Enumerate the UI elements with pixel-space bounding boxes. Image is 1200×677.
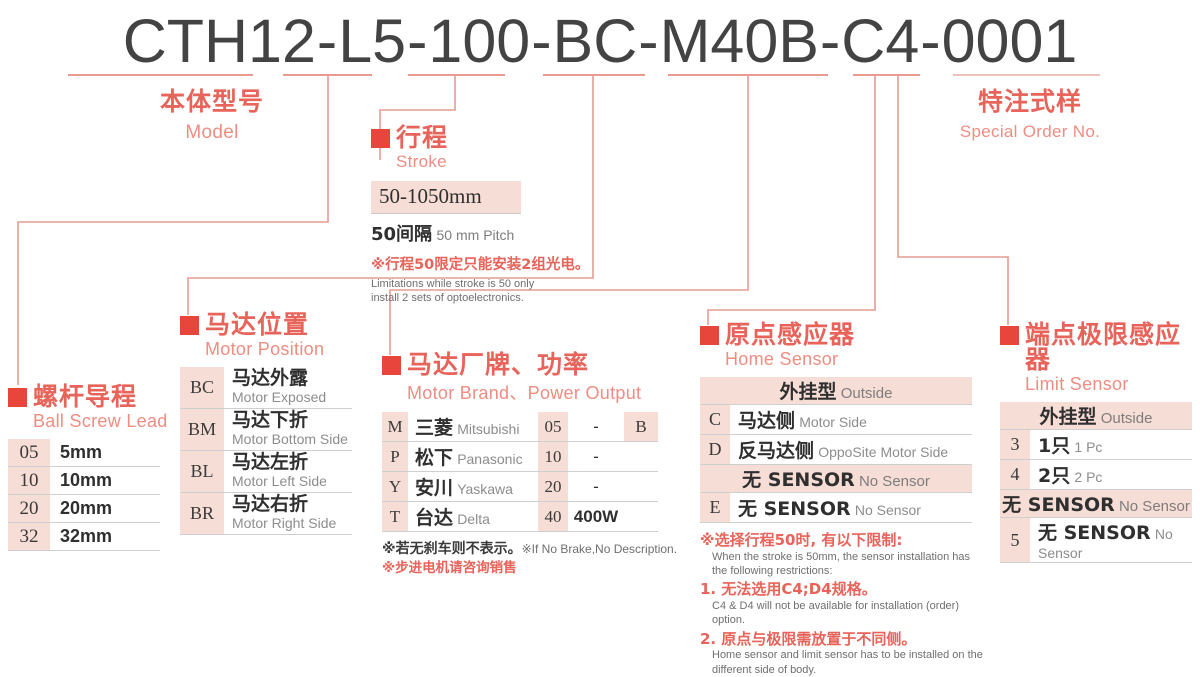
product-code: CTH12-L5-100-BC-M40B-C4-0001 [0, 6, 1200, 76]
cell-brake-code: B [624, 412, 658, 442]
cell-code: E [700, 493, 730, 523]
code-separator: - [919, 7, 941, 75]
cell-brand-name: 安川 Yaskawa [408, 472, 538, 502]
table-row: 1010mm [8, 467, 160, 495]
cell-value: 5mm [50, 439, 160, 467]
cell-brand-name: 三菱 Mitsubishi [408, 412, 538, 442]
cell-description: 无 SENSOR No Sensor [1030, 518, 1192, 563]
section-stroke: 行程 Stroke 50-1050mm 50间隔 50 mm Pitch ※行程… [371, 125, 589, 306]
section-limit-sensor-title-cn: 端点极限感应器 [1025, 322, 1200, 372]
cell-brand-name: 松下 Panasonic [408, 442, 538, 472]
motor-brand-note-line1: ※若无刹车则不表示。※If No Brake,No Description. [382, 538, 677, 558]
home-note-item2-en-1: Home sensor and limit sensor has to be i… [712, 648, 986, 662]
square-bullet-icon [371, 129, 390, 148]
stroke-pitch-en: 50 mm Pitch [437, 227, 515, 243]
cell-description: 反马达侧 OppoSite Motor Side [730, 435, 972, 465]
section-home-sensor-title-en: Home Sensor [725, 349, 986, 370]
section-motor-brand-heading: 马达厂牌、功率 [382, 352, 677, 377]
cell-code: BL [180, 450, 224, 492]
square-bullet-icon [700, 326, 719, 345]
ball-screw-lead-table: 055mm1010mm2020mm3232mm [8, 439, 160, 551]
cell-code: 05 [8, 439, 50, 467]
table-row: 42只 2 Pc [1000, 460, 1192, 490]
cell-brake-code [624, 442, 658, 472]
section-special-title-en: Special Order No. [930, 122, 1130, 142]
cell-code: 10 [8, 467, 50, 495]
cell-brand-code: M [382, 412, 408, 442]
table-row: C马达侧 Motor Side [700, 405, 972, 435]
cell-code: 4 [1000, 460, 1030, 490]
section-model-title-en: Model [112, 122, 312, 144]
stroke-note-cn: ※行程50限定只能安装2组光电。 [371, 256, 589, 274]
motor-brand-note-cn: ※若无刹车则不表示。 [382, 541, 522, 557]
table-row: BM马达下折Motor Bottom Side [180, 408, 352, 450]
section-motor-brand-title-en: Motor Brand、Power Output [407, 379, 677, 405]
table-row: 5无 SENSOR No Sensor [1000, 518, 1192, 563]
stroke-range-value: 50-1050mm [379, 184, 482, 208]
section-ball-screw-title-cn: 螺杆导程 [33, 384, 137, 409]
section-home-sensor-heading: 原点感应器 [700, 322, 986, 347]
section-ball-screw-lead: 螺杆导程 Ball Screw Lead 055mm1010mm2020mm32… [8, 384, 168, 551]
cell-code: 20 [8, 495, 50, 523]
cell-description: 马达下折Motor Bottom Side [224, 408, 352, 450]
band-outside: 外挂型 Outside [1000, 402, 1192, 430]
cell-power-value: - [568, 412, 624, 442]
motor-position-table: BC马达外露Motor ExposedBM马达下折Motor Bottom Si… [180, 367, 352, 535]
section-home-sensor-title-cn: 原点感应器 [725, 322, 855, 347]
table-row: D反马达侧 OppoSite Motor Side [700, 435, 972, 465]
table-row: M三菱 Mitsubishi05-B [382, 412, 658, 442]
motor-brand-notes: ※若无刹车则不表示。※If No Brake,No Description. ※… [382, 538, 677, 577]
cell-brake-code [624, 502, 658, 532]
table-row: BC马达外露Motor Exposed [180, 367, 352, 408]
cell-code: 32 [8, 523, 50, 551]
table-row: T台达 Delta40400W [382, 502, 658, 532]
section-stroke-title-en: Stroke [396, 152, 589, 172]
code-separator: - [406, 7, 428, 75]
home-note-item2-en-2: different side of body. [712, 663, 986, 677]
section-stroke-heading: 行程 [371, 125, 589, 150]
cell-description: 马达右折Motor Right Side [224, 492, 352, 534]
cell-value: 20mm [50, 495, 160, 523]
code-segment-ball-screw: L5 [338, 7, 406, 75]
cell-brand-code: T [382, 502, 408, 532]
limit-sensor-table: 外挂型 Outside31只 1 Pc42只 2 Pc无 SENSOR No S… [1000, 402, 1192, 563]
section-model: 本体型号 Model [112, 82, 312, 144]
cell-code: BM [180, 408, 224, 450]
band-no-sensor: 无 SENSOR No Sensor [1000, 490, 1192, 518]
cell-brake-code [624, 472, 658, 502]
section-motor-brand-title-cn: 马达厂牌、功率 [407, 352, 589, 377]
cell-code: D [700, 435, 730, 465]
section-special-title-cn: 特注式样 [930, 82, 1130, 118]
home-note-title-en-2: the following restrictions: [712, 564, 986, 578]
table-row: Y安川 Yaskawa20- [382, 472, 658, 502]
home-note-title-en-1: When the stroke is 50mm, the sensor inst… [712, 550, 986, 564]
cell-brand-code: Y [382, 472, 408, 502]
cell-description: 马达左折Motor Left Side [224, 450, 352, 492]
section-limit-sensor-heading: 端点极限感应器 [1000, 322, 1200, 372]
square-bullet-icon [180, 316, 199, 335]
cell-description: 1只 1 Pc [1030, 430, 1192, 460]
cell-description: 马达外露Motor Exposed [224, 367, 352, 408]
cell-power-code: 10 [538, 442, 568, 472]
table-row: 外挂型 Outside [700, 377, 972, 405]
table-row: 31只 1 Pc [1000, 430, 1192, 460]
cell-power-code: 05 [538, 412, 568, 442]
cell-code: BR [180, 492, 224, 534]
cell-value: 32mm [50, 523, 160, 551]
table-row: 无 SENSOR No Sensor [700, 465, 972, 493]
home-note-item1-en: C4 & D4 will not be available for instal… [712, 599, 986, 628]
stroke-range-box: 50-1050mm [371, 181, 521, 214]
cell-code: C [700, 405, 730, 435]
cell-value: 10mm [50, 467, 160, 495]
code-separator: - [637, 7, 659, 75]
stroke-note: ※行程50限定只能安装2组光电。 Limitations while strok… [371, 256, 589, 306]
table-row: 2020mm [8, 495, 160, 523]
cell-brand-code: P [382, 442, 408, 472]
code-separator: - [530, 7, 552, 75]
motor-brand-table: M三菱 Mitsubishi05-BP松下 Panasonic10-Y安川 Ya… [382, 412, 658, 532]
cell-power-code: 20 [538, 472, 568, 502]
section-model-title-cn: 本体型号 [112, 82, 312, 118]
code-segment-motor-brand: M40B [660, 7, 819, 75]
code-segment-special-order: 0001 [942, 7, 1078, 75]
section-motor-position-title-en: Motor Position [205, 339, 352, 360]
code-separator: - [819, 7, 841, 75]
code-segment-stroke: 100 [428, 7, 530, 75]
home-note-title-cn: ※选择行程50时, 有以下限制: [700, 531, 986, 550]
section-home-sensor: 原点感应器 Home Sensor 外挂型 OutsideC马达侧 Motor … [700, 322, 986, 677]
code-separator: - [316, 7, 338, 75]
table-row: 3232mm [8, 523, 160, 551]
section-motor-brand: 马达厂牌、功率 Motor Brand、Power Output M三菱 Mit… [382, 352, 677, 577]
home-sensor-table: 外挂型 OutsideC马达侧 Motor SideD反马达侧 OppoSite… [700, 377, 972, 523]
table-row: BR马达右折Motor Right Side [180, 492, 352, 534]
section-limit-sensor-title-en: Limit Sensor [1025, 374, 1200, 395]
table-row: 外挂型 Outside [1000, 402, 1192, 430]
motor-brand-note-line2: ※步进电机请咨询销售 [382, 560, 677, 577]
cell-power-code: 40 [538, 502, 568, 532]
section-motor-position-heading: 马达位置 [180, 312, 352, 337]
code-segment-home-sensor: C4 [841, 7, 919, 75]
cell-description: 2只 2 Pc [1030, 460, 1192, 490]
square-bullet-icon [382, 356, 401, 375]
band-no-sensor: 无 SENSOR No Sensor [700, 465, 972, 493]
section-ball-screw-heading: 螺杆导程 [8, 384, 168, 409]
cell-code: 5 [1000, 518, 1030, 563]
home-note-item1-cn: 1. 无法选用C4;D4规格。 [700, 580, 986, 599]
motor-brand-note-en: ※If No Brake,No Description. [522, 542, 677, 556]
home-sensor-notes: ※选择行程50时, 有以下限制: When the stroke is 50mm… [700, 531, 986, 677]
band-outside: 外挂型 Outside [700, 377, 972, 405]
cell-power-value: - [568, 442, 624, 472]
stroke-pitch: 50间隔 50 mm Pitch [371, 220, 589, 246]
cell-description: 无 SENSOR No Sensor [730, 493, 972, 523]
table-row: 055mm [8, 439, 160, 467]
square-bullet-icon [8, 388, 27, 407]
cell-code: BC [180, 367, 224, 408]
table-row: P松下 Panasonic10- [382, 442, 658, 472]
home-note-item2-cn: 2. 原点与极限需放置于不同侧。 [700, 630, 986, 649]
section-motor-position: 马达位置 Motor Position BC马达外露Motor ExposedB… [180, 312, 352, 535]
code-segment-model: CTH12 [123, 7, 316, 75]
stroke-note-en-1: Limitations while stroke is 50 only [371, 277, 589, 291]
cell-brand-name: 台达 Delta [408, 502, 538, 532]
cell-power-value: 400W [568, 502, 624, 532]
section-stroke-title-cn: 行程 [396, 125, 448, 150]
code-segment-motor-position: BC [553, 7, 638, 75]
table-row: E无 SENSOR No Sensor [700, 493, 972, 523]
section-limit-sensor: 端点极限感应器 Limit Sensor 外挂型 Outside31只 1 Pc… [1000, 322, 1200, 563]
section-ball-screw-title-en: Ball Screw Lead [33, 411, 168, 432]
cell-code: 3 [1000, 430, 1030, 460]
stroke-pitch-cn: 50间隔 [371, 224, 432, 245]
table-row: 无 SENSOR No Sensor [1000, 490, 1192, 518]
stroke-note-en-2: install 2 sets of optoelectronics. [371, 291, 589, 305]
table-row: BL马达左折Motor Left Side [180, 450, 352, 492]
cell-power-value: - [568, 472, 624, 502]
square-bullet-icon [1000, 326, 1019, 345]
section-special-order: 特注式样 Special Order No. [930, 82, 1130, 142]
section-motor-position-title-cn: 马达位置 [205, 312, 309, 337]
cell-description: 马达侧 Motor Side [730, 405, 972, 435]
